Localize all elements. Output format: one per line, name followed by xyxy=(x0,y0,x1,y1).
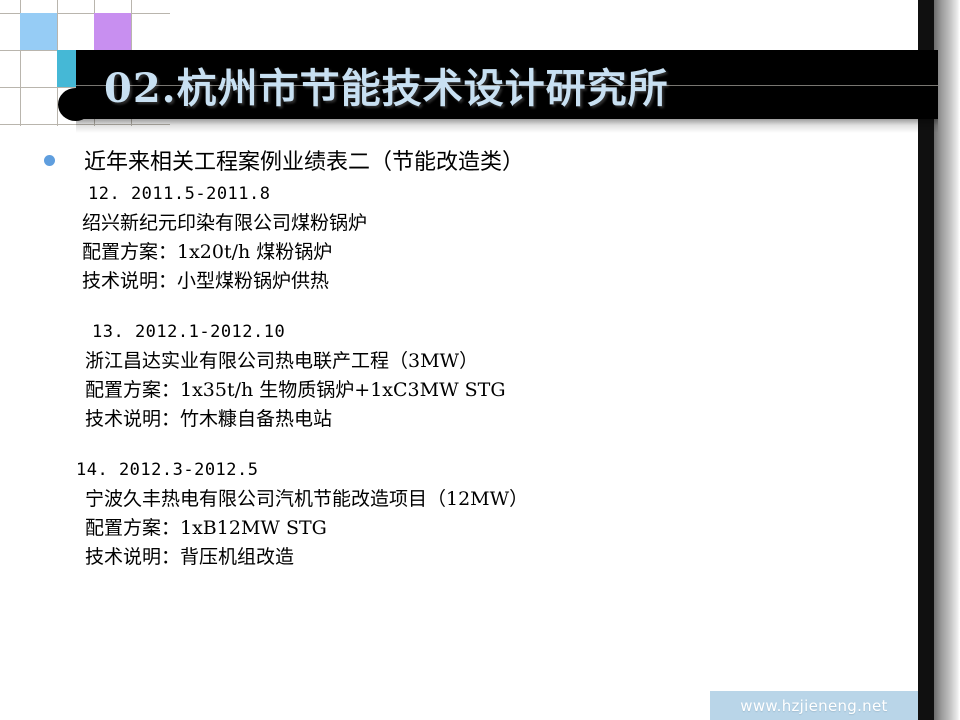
decor-square-purple xyxy=(94,13,131,50)
section-heading-label: 近年来相关工程案例业绩表二（节能改造类） xyxy=(84,144,524,176)
list-item: 13. 2012.1-2012.10 浙江昌达实业有限公司热电联产工程（3MW）… xyxy=(0,318,918,434)
title-bar-shadow xyxy=(76,119,938,133)
entry-description: 技术说明：竹木糠自备热电站 xyxy=(0,405,918,434)
entry-description: 技术说明：背压机组改造 xyxy=(0,543,918,572)
entry-config: 配置方案：1x35t/h 生物质锅炉+1xC3MW STG xyxy=(0,376,918,405)
page-title: 02.杭州市节能技术设计研究所 xyxy=(104,56,669,114)
entry-number-line: 12. 2011.5-2011.8 xyxy=(0,180,918,209)
entry-project: 浙江昌达实业有限公司热电联产工程（3MW） xyxy=(0,347,918,376)
list-item: 12. 2011.5-2011.8 绍兴新纪元印染有限公司煤粉锅炉 配置方案：1… xyxy=(0,180,918,296)
entry-project: 绍兴新纪元印染有限公司煤粉锅炉 xyxy=(0,209,918,238)
entry-number-line: 13. 2012.1-2012.10 xyxy=(0,318,918,347)
section-heading: 近年来相关工程案例业绩表二（节能改造类） xyxy=(44,144,524,176)
title-bar: 02.杭州市节能技术设计研究所 xyxy=(76,50,938,119)
entry-config: 配置方案：1x20t/h 煤粉锅炉 xyxy=(0,238,918,267)
entry-description: 技术说明：小型煤粉锅炉供热 xyxy=(0,267,918,296)
decor-square-blue xyxy=(20,13,57,50)
entry-list: 12. 2011.5-2011.8 绍兴新纪元印染有限公司煤粉锅炉 配置方案：1… xyxy=(0,180,918,594)
bullet-icon xyxy=(44,155,55,166)
footer-url[interactable]: www.hzjieneng.net xyxy=(710,691,918,720)
entry-number-line: 14. 2012.3-2012.5 xyxy=(0,456,918,485)
footer-bar: www.hzjieneng.net xyxy=(710,691,918,720)
entry-project: 宁波久丰热电有限公司汽机节能改造项目（12MW） xyxy=(0,485,918,514)
slide-canvas: 02.杭州市节能技术设计研究所 近年来相关工程案例业绩表二（节能改造类） 12.… xyxy=(0,0,960,720)
list-item: 14. 2012.3-2012.5 宁波久丰热电有限公司汽机节能改造项目（12M… xyxy=(0,456,918,572)
entry-config: 配置方案：1xB12MW STG xyxy=(0,514,918,543)
